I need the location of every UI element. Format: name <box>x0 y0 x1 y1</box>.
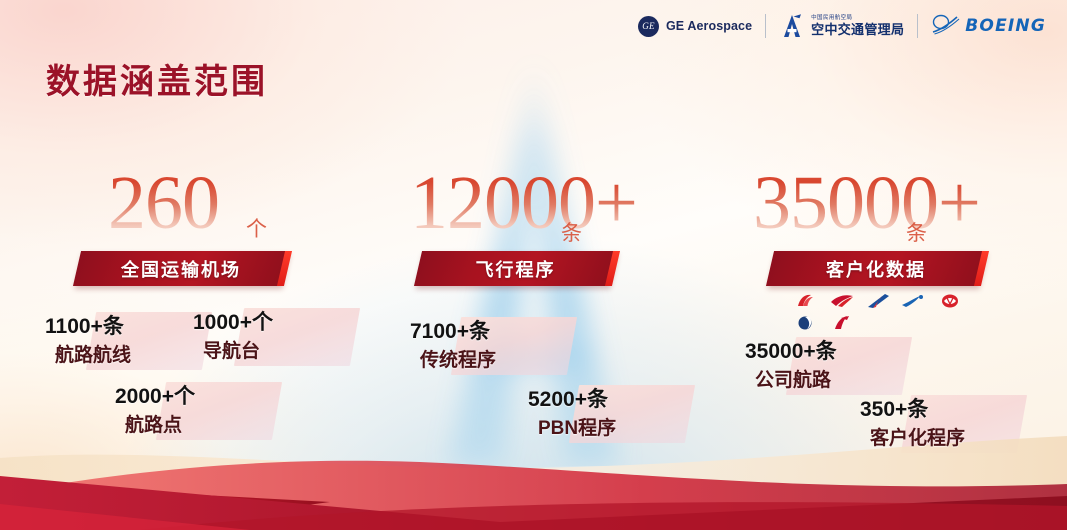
banner-label: 飞行程序 <box>476 256 556 282</box>
big-number: 35000+ <box>753 165 980 241</box>
column-banner-procedures[interactable]: 飞行程序 <box>418 251 613 286</box>
big-number: 260 <box>108 165 219 241</box>
air-china-logo <box>793 293 819 309</box>
banner-label: 客户化数据 <box>826 256 926 282</box>
sub-item-airways: 1100+条 航路航线 <box>45 310 215 374</box>
sub-item-company-routes: 35000+条 公司航路 <box>745 335 915 399</box>
banner-label: 全国运输机场 <box>121 256 241 282</box>
big-number-block: 35000+ 条 <box>735 165 1055 247</box>
big-number: 12000+ <box>410 165 637 241</box>
big-number-unit: 条 <box>906 217 927 247</box>
stat-column-procedures: 12000+ 条 飞行程序 7100+条 传统程序 5200+条 PBN程序 <box>400 165 700 286</box>
column-banner-customized[interactable]: 客户化数据 <box>770 251 982 286</box>
slide-root: GE GE Aerospace 中国民用航空局 空中交通管理局 BOEING <box>0 0 1067 530</box>
column-banner-airports[interactable]: 全国运输机场 <box>77 251 285 286</box>
sub-item-waypoints: 2000+个 航路点 <box>115 380 285 444</box>
sub-item-number: 350+条 <box>860 393 928 423</box>
sub-item-number: 1000+个 <box>193 306 273 336</box>
sub-item-conventional: 7100+条 传统程序 <box>410 315 580 379</box>
china-eastern-logo <box>829 293 855 309</box>
stat-column-airports: 260 个 全国运输机场 1100+条 航路航线 1000+个 导航台 2000… <box>60 165 380 286</box>
sub-item-label: 航路航线 <box>55 340 131 367</box>
airline-logo-strip <box>793 293 993 331</box>
sub-item-label: 传统程序 <box>420 345 496 372</box>
big-number-unit: 个 <box>246 213 267 243</box>
sub-item-label: 导航台 <box>203 336 260 363</box>
sub-item-number: 1100+条 <box>45 310 124 340</box>
big-number-unit: 条 <box>561 217 582 247</box>
sichuan-airlines-logo <box>829 315 855 331</box>
sub-item-number: 7100+条 <box>410 315 490 345</box>
sub-item-number: 5200+条 <box>528 383 608 413</box>
sub-item-label: 客户化程序 <box>870 423 965 450</box>
sub-item-pbn: 5200+条 PBN程序 <box>528 383 698 447</box>
sub-item-customized-procedures: 350+条 客户化程序 <box>860 393 1030 457</box>
big-number-block: 260 个 <box>60 165 380 247</box>
shandong-airlines-logo <box>793 315 819 331</box>
xiamen-air-logo <box>901 293 927 309</box>
sub-item-navaids: 1000+个 导航台 <box>193 306 363 370</box>
sub-item-label: 公司航路 <box>755 365 831 392</box>
sub-item-label: PBN程序 <box>538 413 616 440</box>
big-number-block: 12000+ 条 <box>400 165 700 247</box>
stat-column-customized: 35000+ 条 客户化数据 <box>735 165 1055 286</box>
sub-item-label: 航路点 <box>125 410 182 437</box>
sub-item-number: 35000+条 <box>745 335 837 365</box>
hainan-airlines-logo <box>937 293 963 309</box>
china-southern-logo <box>865 293 891 309</box>
stats-columns: 260 个 全国运输机场 1100+条 航路航线 1000+个 导航台 2000… <box>0 0 1067 530</box>
sub-item-number: 2000+个 <box>115 380 195 410</box>
